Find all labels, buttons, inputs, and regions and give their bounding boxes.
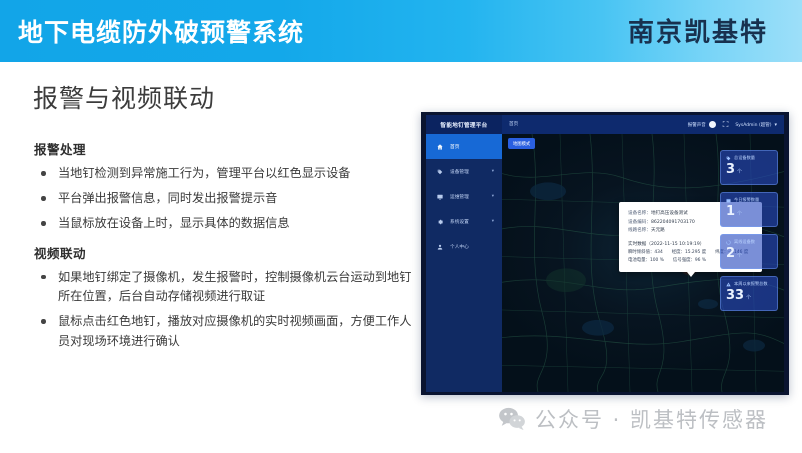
watermark: 公众号 · 凯基特传感器 <box>498 404 768 434</box>
kpi-value-wrap: 33个 <box>726 289 772 305</box>
toggle-knob[interactable] <box>709 121 716 128</box>
breadcrumb: 首页 <box>509 121 518 127</box>
user-menu[interactable]: SysAdmin (超管) ▾ <box>735 122 777 128</box>
alarm-sound-label: 报警声音 <box>688 122 706 128</box>
sidebar-item-label: 首页 <box>450 144 459 150</box>
kpi-card-total-devices[interactable]: 总设备数量 3个 <box>720 150 778 185</box>
app-screenshot: 智能地钉管理平台 首页 报警声音 ⛶ SysAdmin (超管) ▾ <box>421 112 789 395</box>
bullet-list-alarm: 当地钉检测到异常施工行为，管理平台以红色显示设备 平台弹出报警信息，同时发出报警… <box>38 164 419 234</box>
offline-icon <box>726 240 731 245</box>
kpi-label: 本周以来报警总数 <box>734 281 768 287</box>
bullet-list-video: 如果地钉绑定了摄像机，发生报警时，控制摄像机云台运动到地钉所在位置，后台自动存储… <box>38 268 419 352</box>
kpi-card-offline-devices[interactable]: 离线设备数 2个 <box>720 234 778 269</box>
sidebar-item-home[interactable]: 首页 <box>426 134 502 159</box>
slide-content: 报警处理 当地钉检测到异常施工行为，管理平台以红色显示设备 平台弹出报警信息，同… <box>34 139 419 357</box>
header-brand: 南京凯基特 <box>628 12 768 49</box>
alert-icon <box>726 282 731 287</box>
gear-icon <box>437 219 443 225</box>
sidebar-item-profile[interactable]: 个人中心 <box>426 234 502 259</box>
wechat-icon <box>498 407 526 431</box>
kpi-unit: 个 <box>737 169 742 175</box>
metric-key: 经度： <box>672 250 685 255</box>
sidebar-item-label: 个人中心 <box>450 244 469 250</box>
list-item: 如果地钉绑定了摄像机，发生报警时，控制摄像机云台运动到地钉所在位置，后台自动存储… <box>38 268 419 307</box>
sidebar-item-label: 运维管理 <box>450 194 469 200</box>
list-item: 当鼠标放在设备上时，显示具体的数据信息 <box>38 214 419 234</box>
topbar-actions: 报警声音 ⛶ SysAdmin (超管) ▾ <box>688 115 777 134</box>
user-name: SysAdmin (超管) <box>735 122 771 128</box>
sidebar-item-devices[interactable]: 设备管理 ▾ <box>426 159 502 184</box>
kpi-card-week-alarms[interactable]: 本周以来报警总数 33个 <box>720 276 778 311</box>
chevron-down-icon: ▾ <box>774 122 777 128</box>
metric-value: 96 % <box>695 258 706 263</box>
popup-row-key: 线路名称： <box>628 228 651 233</box>
kpi-label: 今日报警数量 <box>734 197 759 203</box>
sidebar-item-settings[interactable]: 系统设置 ▾ <box>426 209 502 234</box>
kpi-label: 离线设备数 <box>734 239 755 245</box>
kpi-value: 1 <box>726 204 735 219</box>
map-mode-button[interactable]: 地图模式 <box>508 138 535 149</box>
kpi-card-list: 总设备数量 3个 今日报警数量 1个 <box>720 150 778 318</box>
list-item: 鼠标点击红色地钉，播放对应摄像机的实时视频画面，方便工作人员对现场环境进行确认 <box>38 312 419 351</box>
expand-icon[interactable]: ⛶ <box>723 121 729 129</box>
app-logo: 智能地钉管理平台 <box>426 115 502 134</box>
page-title: 报警与视频联动 <box>33 79 215 115</box>
page-header: 地下电缆防外破预警系统 南京凯基特 <box>0 0 802 62</box>
calendar-icon <box>726 198 731 203</box>
metric-cell: 经度：15.295 度 <box>672 249 706 257</box>
kpi-value: 2 <box>726 246 735 261</box>
sidebar-item-label: 设备管理 <box>450 169 469 175</box>
user-icon <box>437 244 443 250</box>
sidebar-item-label: 系统设置 <box>450 219 469 225</box>
kpi-unit: 个 <box>737 211 742 217</box>
kpi-unit: 个 <box>737 253 742 259</box>
metric-key: 瞬时倾斜值： <box>628 250 654 255</box>
kpi-card-today-alarms[interactable]: 今日报警数量 1个 <box>720 192 778 227</box>
alarm-sound-toggle[interactable]: 报警声音 <box>688 121 716 128</box>
map-canvas[interactable]: 地图模式 设备名称：地钉高压设备测试 设备编码：862204091703170 … <box>502 134 784 392</box>
metric-value: 15.295 度 <box>685 250 706 255</box>
kpi-label-row: 总设备数量 <box>726 155 772 161</box>
header-title: 地下电缆防外破预警系统 <box>18 13 304 49</box>
popup-row-value: 地钉高压设备测试 <box>651 211 688 216</box>
chevron-down-icon: ▾ <box>492 219 494 224</box>
metric-cell: 信号强度：96 % <box>673 257 706 265</box>
home-icon <box>437 144 443 150</box>
kpi-value-wrap: 1个 <box>726 205 772 221</box>
chevron-down-icon: ▾ <box>492 169 494 174</box>
kpi-value-wrap: 2个 <box>726 247 772 263</box>
section-heading-video: 视频联动 <box>34 243 419 262</box>
monitor-icon <box>437 194 443 200</box>
kpi-label-row: 离线设备数 <box>726 239 772 245</box>
tag-icon <box>437 169 443 175</box>
popup-row-value: 天元路 <box>651 228 665 233</box>
kpi-label-row: 本周以来报警总数 <box>726 281 772 287</box>
popup-row-key: 设备编码： <box>628 220 651 225</box>
popup-row-value: 862204091703170 <box>651 220 695 225</box>
kpi-unit: 个 <box>746 295 751 301</box>
metric-value: 434 <box>654 250 662 255</box>
section-heading-alarm: 报警处理 <box>34 139 419 158</box>
app-sidebar: 首页 设备管理 ▾ 运维管理 ▾ 系统设置 <box>426 134 502 392</box>
kpi-label-row: 今日报警数量 <box>726 197 772 203</box>
metric-cell: 电池电量：100 % <box>628 257 664 265</box>
list-item: 平台弹出报警信息，同时发出报警提示音 <box>38 189 419 209</box>
metric-key: 电池电量： <box>628 258 650 263</box>
metric-key: 信号强度： <box>673 258 695 263</box>
app-topbar: 智能地钉管理平台 首页 报警声音 ⛶ SysAdmin (超管) ▾ <box>426 115 784 134</box>
kpi-value: 3 <box>726 162 735 177</box>
metric-value: 100 % <box>650 258 664 263</box>
device-icon <box>726 156 731 161</box>
kpi-value-wrap: 3个 <box>726 163 772 179</box>
metric-cell: 瞬时倾斜值：434 <box>628 249 663 257</box>
list-item: 当地钉检测到异常施工行为，管理平台以红色显示设备 <box>38 164 419 184</box>
sidebar-item-ops[interactable]: 运维管理 ▾ <box>426 184 502 209</box>
kpi-label: 总设备数量 <box>734 155 755 161</box>
watermark-text: 公众号 · 凯基特传感器 <box>535 404 768 434</box>
kpi-value: 33 <box>726 288 744 303</box>
chevron-down-icon: ▾ <box>492 194 494 199</box>
popup-row-key: 设备名称： <box>628 211 651 216</box>
